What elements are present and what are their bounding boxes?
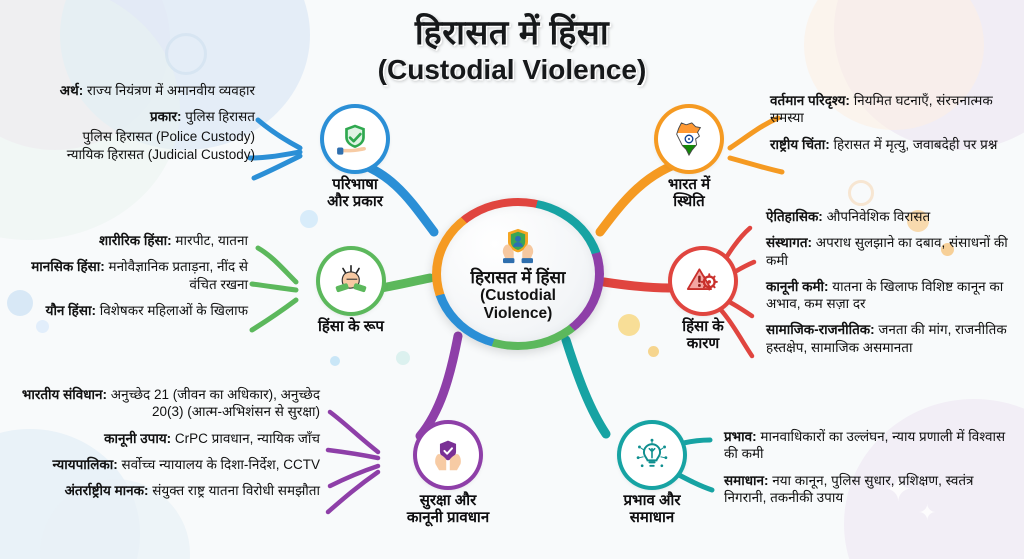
leaf-group-forms: शारीरिक हिंसा: मारपीट, यातना मानसिक हिंस… bbox=[18, 232, 248, 319]
leaf-item: प्रकार: पुलिस हिरासत bbox=[40, 108, 255, 125]
branch-node-definition[interactable]: परिभाषा और प्रकार bbox=[300, 108, 410, 211]
branch-label-protection: सुरक्षा और कानूनी प्रावधान bbox=[378, 492, 518, 527]
center-title-english-1: (Custodial bbox=[480, 287, 556, 304]
leaf-item: यौन हिंसा: विशेषकर महिलाओं के खिलाफ bbox=[18, 302, 248, 319]
leaf-item: सामाजिक-राजनीतिक: जनता की मांग, राजनीतिक… bbox=[766, 321, 1014, 356]
fist-punch-icon bbox=[333, 264, 369, 298]
hand-holding-shield-icon bbox=[337, 122, 373, 156]
page-title: हिरासत में हिंसा (Custodial Violence) bbox=[0, 16, 1024, 86]
leaf-item: संस्थागत: अपराध सुलझाने का दबाव, संसाधनो… bbox=[766, 234, 1014, 269]
branch-node-causes[interactable]: हिंसा के कारण bbox=[648, 250, 758, 353]
leaf-item: न्यायपालिका: सर्वोच्च न्यायालय के दिशा-न… bbox=[14, 456, 320, 473]
branch-label-definition: परिभाषा और प्रकार bbox=[300, 176, 410, 211]
branch-node-india-situation[interactable]: भारत में स्थिति bbox=[634, 108, 744, 211]
leaf-item: वर्तमान परिदृश्य: नियमित घटनाएँ, संरचनात… bbox=[770, 92, 1010, 127]
leaf-item: पुलिस हिरासत (Police Custody) bbox=[40, 128, 255, 145]
leaf-item: ऐतिहासिक: औपनिवेशिक विरासत bbox=[766, 208, 1014, 225]
branch-node-impact[interactable]: प्रभाव और समाधान bbox=[592, 424, 712, 527]
warning-triangle-gear-icon bbox=[685, 264, 721, 298]
branch-label-impact: प्रभाव और समाधान bbox=[592, 492, 712, 527]
lightbulb-idea-icon bbox=[635, 438, 669, 472]
leaf-item: प्रभाव: मानवाधिकारों का उल्लंघन, न्याय प… bbox=[724, 428, 1014, 463]
leaf-item: समाधान: नया कानून, पुलिस सुधार, प्रशिक्ष… bbox=[724, 472, 1014, 507]
leaf-item: भारतीय संविधान: अनुच्छेद 21 (जीवन का अधि… bbox=[14, 386, 320, 421]
leaf-group-impact: प्रभाव: मानवाधिकारों का उल्लंघन, न्याय प… bbox=[724, 428, 1014, 506]
page-title-hindi: हिरासत में हिंसा bbox=[0, 16, 1024, 52]
leaf-item: अंतर्राष्ट्रीय मानक: संयुक्त राष्ट्र यात… bbox=[14, 482, 320, 499]
branch-node-protection[interactable]: सुरक्षा और कानूनी प्रावधान bbox=[378, 424, 518, 527]
leaf-item: कानूनी उपाय: CrPC प्रावधान, न्यायिक जाँच bbox=[14, 430, 320, 447]
center-node[interactable]: हिरासत में हिंसा (Custodial Violence) bbox=[432, 198, 604, 350]
leaf-group-india-situation: वर्तमान परिदृश्य: नियमित घटनाएँ, संरचनात… bbox=[770, 92, 1010, 153]
center-title-english-2: Violence) bbox=[484, 305, 553, 322]
mindmap-canvas: ✦ ✦ हिरासत में हिंसा (Custodial Violence… bbox=[0, 0, 1024, 559]
page-title-english: (Custodial Violence) bbox=[0, 54, 1024, 86]
branch-label-causes: हिंसा के कारण bbox=[648, 318, 758, 353]
branch-node-forms[interactable]: हिंसा के रूप bbox=[296, 250, 406, 335]
branch-label-india-situation: भारत में स्थिति bbox=[634, 176, 744, 211]
leaf-item: न्यायिक हिरासत (Judicial Custody) bbox=[40, 146, 255, 163]
branch-label-forms: हिंसा के रूप bbox=[296, 318, 406, 335]
leaf-group-protection: भारतीय संविधान: अनुच्छेद 21 (जीवन का अधि… bbox=[14, 386, 320, 499]
leaf-item: मानसिक हिंसा: मनोवैज्ञानिक प्रताड़ना, नी… bbox=[18, 258, 248, 293]
leaf-item: कानूनी कमी: यातना के खिलाफ विशिष्ट कानून… bbox=[766, 278, 1014, 313]
leaf-item: शारीरिक हिंसा: मारपीट, यातना bbox=[18, 232, 248, 249]
leaf-item: राष्ट्रीय चिंता: हिरासत में मृत्यु, जवाब… bbox=[770, 136, 1010, 153]
hands-holding-shield-person-icon bbox=[495, 226, 541, 266]
leaf-group-causes: ऐतिहासिक: औपनिवेशिक विरासत संस्थागत: अपर… bbox=[766, 208, 1014, 356]
hands-holding-shield-check-icon bbox=[430, 438, 466, 472]
india-map-flag-icon bbox=[672, 121, 706, 157]
center-title-hindi: हिरासत में हिंसा bbox=[471, 268, 566, 287]
leaf-group-definition: अर्थ: राज्य नियंत्रण में अमानवीय व्यवहार… bbox=[40, 82, 255, 163]
